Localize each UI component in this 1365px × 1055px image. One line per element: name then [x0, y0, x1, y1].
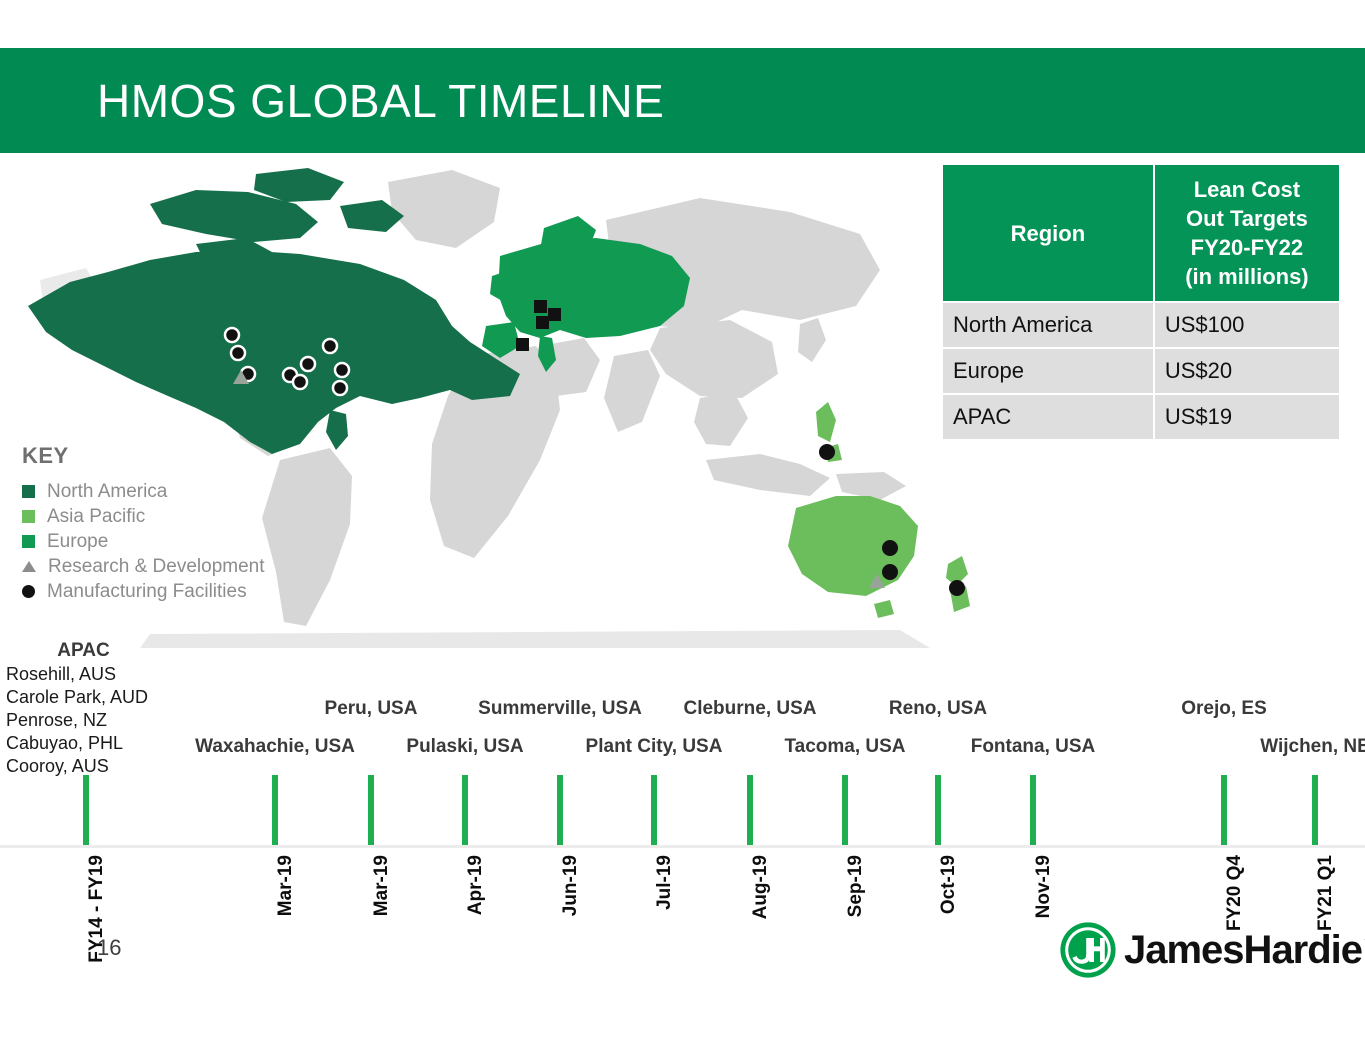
cell-target: US$19: [1155, 395, 1339, 439]
timeline-site-label: Pulaski, USA: [406, 736, 523, 758]
timeline-tick: [842, 775, 848, 845]
timeline-site-label: Summerville, USA: [478, 698, 642, 720]
jh-monogram-icon: [1058, 920, 1118, 980]
timeline-tick: [1030, 775, 1036, 845]
cell-target: US$100: [1155, 303, 1339, 347]
timeline-site-label: Tacoma, USA: [784, 736, 905, 758]
timeline-date-label: Jul-19: [654, 855, 676, 910]
header-line: FY20-FY22: [1163, 233, 1331, 262]
timeline-date-label: Oct-19: [938, 855, 960, 914]
timeline-tick: [557, 775, 563, 845]
timeline-site-label: Orejo, ES: [1181, 698, 1267, 720]
map-key-legend: KEY North America Asia Pacific Europe Re…: [22, 443, 322, 604]
timeline-axis: [0, 845, 1365, 848]
apac-heading: APAC: [6, 640, 161, 662]
lean-cost-out-targets-table: Region Lean Cost Out Targets FY20-FY22 (…: [941, 163, 1341, 441]
timeline-date-label: Sep-19: [845, 855, 867, 917]
table-row: North America US$100: [943, 303, 1339, 347]
header-line: Lean Cost: [1163, 175, 1331, 204]
timeline-tick: [272, 775, 278, 845]
logo-wordmark: JamesHardie™: [1124, 928, 1365, 973]
apac-city: Penrose, NZ: [6, 709, 186, 732]
square-icon: [22, 485, 35, 498]
timeline-tick: [83, 775, 89, 845]
logo-wordmark-text: JamesHardie: [1124, 928, 1362, 972]
timeline-tick: [747, 775, 753, 845]
key-item-asia-pacific: Asia Pacific: [22, 504, 322, 529]
jameshardie-logo: JamesHardie™: [1058, 920, 1365, 980]
timeline-site-label: Waxahachie, USA: [195, 736, 355, 758]
timeline-tick: [935, 775, 941, 845]
table-header-row: Region Lean Cost Out Targets FY20-FY22 (…: [943, 165, 1339, 301]
key-item-label: Research & Development: [48, 556, 265, 578]
apac-city: Carole Park, AUD: [6, 686, 186, 709]
timeline-date-label: Apr-19: [465, 855, 487, 915]
key-item-north-america: North America: [22, 479, 322, 504]
timeline-date-label: Aug-19: [750, 855, 772, 919]
triangle-icon: [22, 561, 36, 572]
timeline-site-label: Wijchen, NE: [1260, 736, 1365, 758]
timeline-date-label: Mar-19: [371, 855, 393, 916]
key-title: KEY: [22, 443, 322, 469]
timeline-tick: [651, 775, 657, 845]
key-item-label: North America: [47, 481, 167, 503]
key-item-label: Europe: [47, 531, 108, 553]
header-line: Out Targets: [1163, 204, 1331, 233]
key-item-europe: Europe: [22, 529, 322, 554]
timeline-site-label: Cleburne, USA: [683, 698, 816, 720]
square-icon: [22, 535, 35, 548]
header-line: (in millions): [1163, 262, 1331, 291]
timeline-tick: [368, 775, 374, 845]
table-row: APAC US$19: [943, 395, 1339, 439]
cell-region: Europe: [943, 349, 1153, 393]
square-icon: [22, 510, 35, 523]
key-item-manufacturing-facilities: Manufacturing Facilities: [22, 579, 322, 604]
timeline-date-label: Mar-19: [275, 855, 297, 916]
timeline-event-apac-group: APAC Rosehill, AUS Carole Park, AUD Penr…: [6, 640, 186, 778]
apac-city: Cabuyao, PHL: [6, 732, 186, 755]
key-item-research-development: Research & Development: [22, 554, 322, 579]
apac-city: Rosehill, AUS: [6, 663, 186, 686]
timeline-site-label: Reno, USA: [889, 698, 987, 720]
apac-city: Cooroy, AUS: [6, 755, 186, 778]
timeline-tick: [1312, 775, 1318, 845]
column-header-targets: Lean Cost Out Targets FY20-FY22 (in mill…: [1155, 165, 1339, 301]
timeline-date-label: Nov-19: [1033, 855, 1055, 918]
timeline-tick: [462, 775, 468, 845]
cell-region: APAC: [943, 395, 1153, 439]
timeline-site-label: Peru, USA: [325, 698, 418, 720]
key-item-label: Manufacturing Facilities: [47, 581, 247, 603]
page-number: 16: [97, 935, 121, 961]
table-row: Europe US$20: [943, 349, 1339, 393]
cell-region: North America: [943, 303, 1153, 347]
cell-target: US$20: [1155, 349, 1339, 393]
circle-icon: [22, 585, 35, 598]
key-item-label: Asia Pacific: [47, 506, 145, 528]
timeline-date-label: Jun-19: [560, 855, 582, 916]
timeline-site-label: Plant City, USA: [586, 736, 723, 758]
slide-canvas: HMOS GLOBAL TIMELINE: [0, 0, 1365, 1055]
timeline-tick: [1221, 775, 1227, 845]
page-title: HMOS GLOBAL TIMELINE: [97, 76, 664, 126]
timeline-site-label: Fontana, USA: [971, 736, 1096, 758]
column-header-region: Region: [943, 165, 1153, 301]
